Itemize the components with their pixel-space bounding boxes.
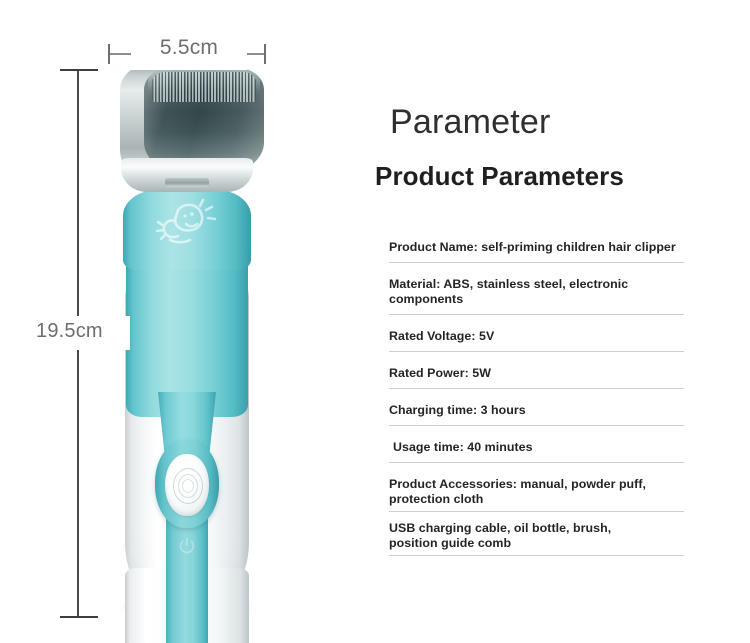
spec-row: Product Name: self-priming children hair…	[389, 240, 684, 263]
page-title: Parameter	[390, 103, 551, 142]
spec-row-text: Product Name: self-priming children hair…	[389, 240, 684, 255]
height-dimension-cap-bottom	[60, 616, 98, 618]
spec-row-text: Rated Voltage: 5V	[389, 329, 684, 344]
height-dimension-label: 19.5cm	[36, 320, 130, 343]
width-dimension-cap-right	[264, 44, 266, 64]
spec-row-text: Usage time: 40 minutes	[389, 440, 684, 455]
spec-row: Product Accessories: manual, powder puff…	[389, 477, 684, 512]
product-spec-image: 5.5cm 19.5cm Parameter Product Parameter…	[0, 0, 750, 643]
spec-row: Rated Voltage: 5V	[389, 329, 684, 352]
character-logo-icon	[148, 196, 226, 248]
height-dimension-cap-top	[60, 69, 98, 71]
blade-head-face	[144, 68, 264, 172]
width-dimension-label: 5.5cm	[131, 36, 247, 60]
spec-list: Product Name: self-priming children hair…	[389, 240, 684, 556]
spec-row: USB charging cable, oil bottle, brush, p…	[389, 521, 684, 556]
product-photo-pane: 5.5cm 19.5cm	[0, 0, 370, 643]
spec-row: Material: ABS, stainless steel, electron…	[389, 277, 684, 315]
spec-row-text: USB charging cable, oil bottle, brush, p…	[389, 521, 684, 551]
power-button-ring-inner	[182, 479, 194, 493]
blade-release-slot	[165, 178, 209, 187]
spec-row: Usage time: 40 minutes	[389, 440, 684, 463]
power-symbol-icon	[177, 536, 197, 556]
parameters-pane: Parameter Product Parameters Product Nam…	[370, 0, 750, 643]
spec-row-text: Material: ABS, stainless steel, electron…	[389, 277, 684, 307]
spec-row-text: Product Accessories: manual, powder puff…	[389, 477, 684, 507]
spec-row-text: Charging time: 3 hours	[389, 403, 684, 418]
blade-head-sheen	[144, 68, 264, 172]
spec-row-text: Rated Power: 5W	[389, 366, 684, 381]
width-dimension-cap-left	[108, 44, 110, 64]
spec-row: Charging time: 3 hours	[389, 403, 684, 426]
page-subtitle: Product Parameters	[375, 161, 624, 192]
clipper-base-right	[201, 568, 249, 643]
spec-row: Rated Power: 5W	[389, 366, 684, 389]
